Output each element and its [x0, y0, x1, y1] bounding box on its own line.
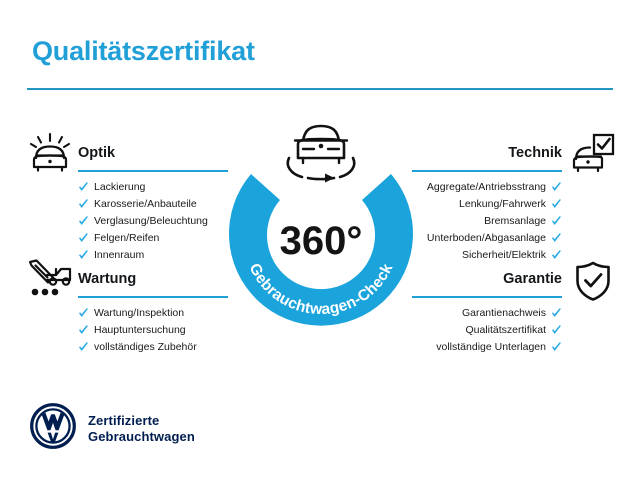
list-item: Sicherheit/Elektrik	[412, 249, 562, 261]
section-technik-header: Technik	[412, 144, 562, 178]
section-wartung-list: Wartung/Inspektion Hauptuntersuchung vol…	[78, 307, 228, 353]
section-wartung-header: Wartung	[78, 270, 228, 304]
check-icon	[78, 182, 89, 193]
volkswagen-logo-icon	[30, 403, 76, 454]
section-technik: Technik Aggregate/Antriebsstrang Lenkung…	[412, 144, 562, 266]
car-dipstick-oil-icon	[26, 258, 74, 305]
check-icon	[551, 342, 562, 353]
section-technik-list: Aggregate/Antriebsstrang Lenkung/Fahrwer…	[412, 181, 562, 261]
car-rotate-360-icon	[275, 118, 367, 184]
section-technik-divider	[412, 170, 562, 172]
check-icon	[78, 342, 89, 353]
list-item: Unterboden/Abgasanlage	[412, 232, 562, 244]
list-item: Qualitätszertifikat	[412, 324, 562, 336]
list-item: vollständige Unterlagen	[412, 341, 562, 353]
shield-check-icon	[572, 260, 614, 307]
list-item-label: Garantienachweis	[462, 307, 546, 319]
list-item-label: Hauptuntersuchung	[94, 324, 186, 336]
list-item: Karosserie/Anbauteile	[78, 198, 228, 210]
list-item: Aggregate/Antriebsstrang	[412, 181, 562, 193]
badge-center-label: 360°	[280, 219, 363, 263]
section-garantie-list: Garantienachweis Qualitätszertifikat vol…	[412, 307, 562, 353]
check-icon	[551, 250, 562, 261]
list-item-label: Unterboden/Abgasanlage	[427, 232, 546, 244]
list-item: Garantienachweis	[412, 307, 562, 319]
list-item-label: Sicherheit/Elektrik	[462, 249, 546, 261]
section-garantie-header: Garantie	[412, 270, 562, 304]
certificate-page: Qualitätszertifikat Optik Lackierung Kar…	[0, 0, 640, 480]
list-item-label: vollständige Unterlagen	[436, 341, 546, 353]
page-title: Qualitätszertifikat	[32, 36, 255, 67]
list-item-label: vollständiges Zubehör	[94, 341, 197, 353]
section-optik-title: Optik	[78, 144, 228, 162]
title-divider	[27, 88, 613, 90]
list-item: Innenraum	[78, 249, 228, 261]
check-icon	[551, 199, 562, 210]
list-item-label: Felgen/Reifen	[94, 232, 159, 244]
check-icon	[551, 308, 562, 319]
list-item: Verglasung/Beleuchtung	[78, 215, 228, 227]
list-item: Bremsanlage	[412, 215, 562, 227]
check-icon	[551, 216, 562, 227]
check-icon	[551, 325, 562, 336]
list-item: Lenkung/Fahrwerk	[412, 198, 562, 210]
car-checkbox-icon	[568, 132, 616, 179]
check-icon	[78, 250, 89, 261]
list-item-label: Aggregate/Antriebsstrang	[427, 181, 546, 193]
section-technik-title: Technik	[412, 144, 562, 162]
section-optik: Optik Lackierung Karosserie/Anbauteile	[78, 144, 228, 266]
list-item-label: Verglasung/Beleuchtung	[94, 215, 208, 227]
list-item: Felgen/Reifen	[78, 232, 228, 244]
list-item: Wartung/Inspektion	[78, 307, 228, 319]
footer-line-1: Zertifizierte	[88, 413, 195, 429]
badge-360-gebrauchtwagen-check: 360° Gebrauchtwagen-Check	[215, 118, 427, 330]
check-icon	[551, 182, 562, 193]
section-wartung-title: Wartung	[78, 270, 228, 288]
section-optik-divider	[78, 170, 228, 172]
section-garantie: Garantie Garantienachweis Qualitätszerti…	[412, 270, 562, 358]
list-item-label: Lenkung/Fahrwerk	[459, 198, 546, 210]
list-item: Lackierung	[78, 181, 228, 193]
list-item-label: Bremsanlage	[484, 215, 546, 227]
list-item-label: Lackierung	[94, 181, 145, 193]
section-wartung-divider	[78, 296, 228, 298]
list-item: Hauptuntersuchung	[78, 324, 228, 336]
check-icon	[78, 325, 89, 336]
section-optik-list: Lackierung Karosserie/Anbauteile Verglas…	[78, 181, 228, 261]
footer-line-2: Gebrauchtwagen	[88, 429, 195, 445]
check-icon	[78, 308, 89, 319]
check-icon	[78, 233, 89, 244]
list-item-label: Karosserie/Anbauteile	[94, 198, 197, 210]
check-icon	[551, 233, 562, 244]
section-garantie-title: Garantie	[412, 270, 562, 288]
list-item-label: Qualitätszertifikat	[465, 324, 546, 336]
section-garantie-divider	[412, 296, 562, 298]
car-shine-icon	[26, 132, 74, 179]
list-item-label: Innenraum	[94, 249, 144, 261]
section-wartung: Wartung Wartung/Inspektion Hauptuntersuc…	[78, 270, 228, 358]
footer-text: Zertifizierte Gebrauchtwagen	[88, 413, 195, 445]
list-item-label: Wartung/Inspektion	[94, 307, 184, 319]
list-item: vollständiges Zubehör	[78, 341, 228, 353]
footer-branding: Zertifizierte Gebrauchtwagen	[30, 403, 195, 454]
section-optik-header: Optik	[78, 144, 228, 178]
check-icon	[78, 199, 89, 210]
check-icon	[78, 216, 89, 227]
